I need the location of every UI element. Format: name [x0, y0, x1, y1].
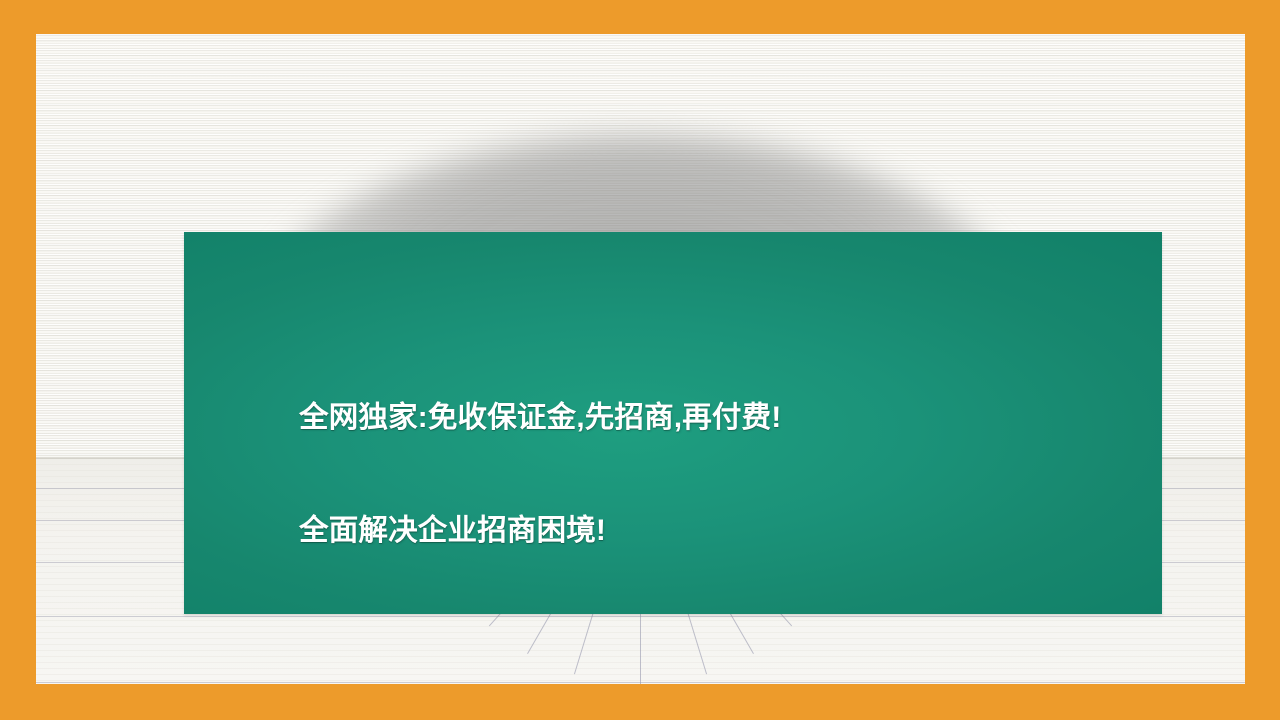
promo-line: 全网独家:免收保证金,先招商,再付费!: [299, 399, 1152, 437]
room-stage: 全网独家:免收保证金,先招商,再付费! 全面解决企业招商困境! 合作即签订保障协…: [36, 34, 1245, 684]
slide-canvas: 全网独家:免收保证金,先招商,再付费! 全面解决企业招商困境! 合作即签订保障协…: [0, 0, 1280, 720]
promo-line: 全面解决企业招商困境!: [299, 512, 1152, 550]
promo-paragraph-1: 全网独家:免收保证金,先招商,再付费! 全面解决企业招商困境!: [299, 324, 1152, 624]
promo-text-card: 全网独家:免收保证金,先招商,再付费! 全面解决企业招商困境! 合作即签订保障协…: [184, 232, 1162, 614]
promo-text-content: 全网独家:免收保证金,先招商,再付费! 全面解决企业招商困境! 合作即签订保障协…: [299, 249, 1152, 684]
